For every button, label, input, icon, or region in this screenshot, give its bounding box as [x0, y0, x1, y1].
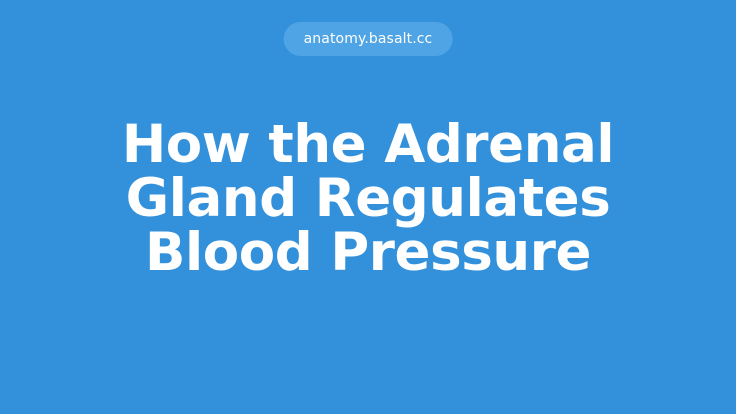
page-title-line-2: Gland Regulates — [40, 172, 696, 226]
share-card: anatomy.basalt.cc How the Adrenal Gland … — [0, 0, 736, 414]
site-domain-label: anatomy.basalt.cc — [304, 32, 433, 46]
site-domain-badge[interactable]: anatomy.basalt.cc — [284, 22, 453, 56]
page-title-line-3: Blood Pressure — [40, 226, 696, 280]
page-title-line-1: How the Adrenal — [40, 118, 696, 172]
page-title: How the Adrenal Gland Regulates Blood Pr… — [0, 118, 736, 280]
